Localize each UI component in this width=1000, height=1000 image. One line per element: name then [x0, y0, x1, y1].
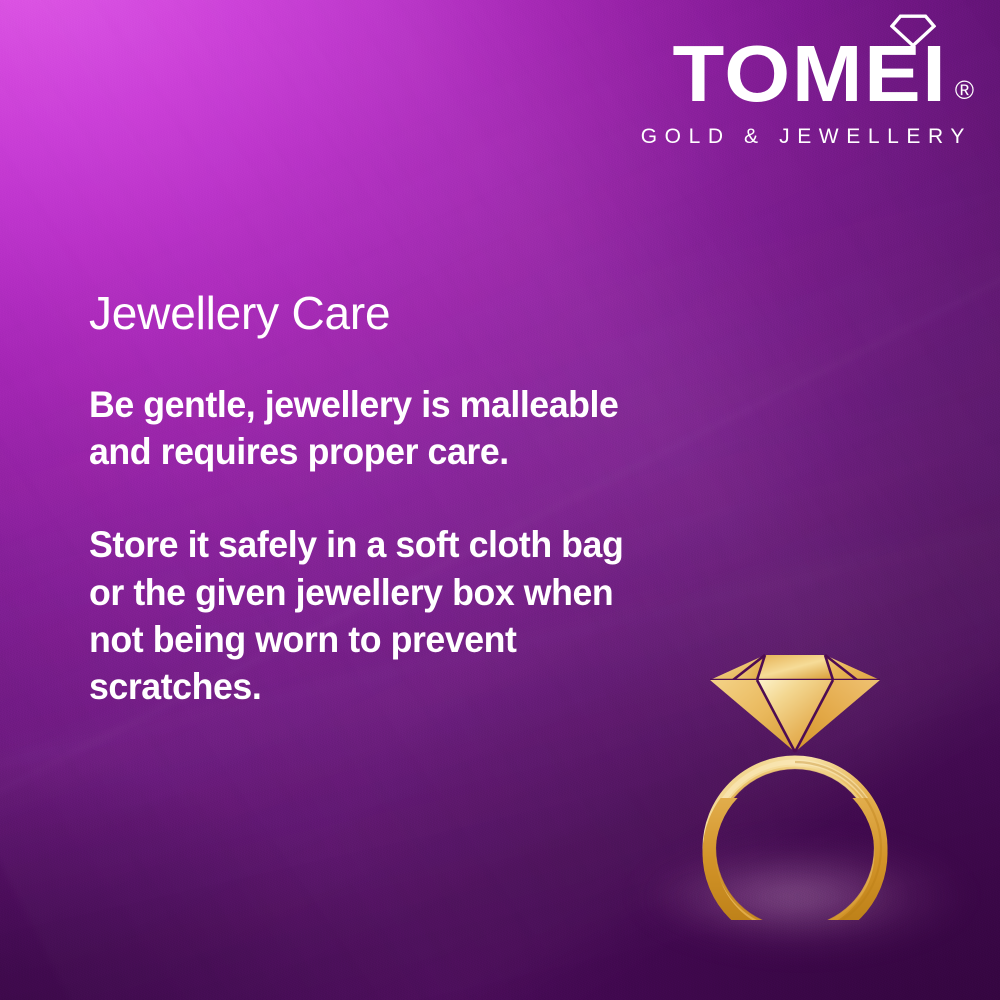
brand-wordmark-row: TOMEI®	[641, 10, 974, 114]
brand-tagline: GOLD & JEWELLERY	[641, 125, 974, 149]
gold-band	[709, 762, 881, 920]
diamond-gem	[710, 655, 880, 752]
poster-canvas: TOMEI® GOLD & JEWELLERY Jewellery Care B…	[0, 0, 1000, 1000]
copy-block: Jewellery Care Be gentle, jewellery is m…	[89, 288, 649, 711]
care-paragraph-1: Be gentle, jewellery is malleable and re…	[89, 381, 629, 476]
registered-trademark-icon: ®	[955, 77, 974, 103]
diamond-ring-illustration	[690, 630, 980, 920]
brand-logo[interactable]: TOMEI® GOLD & JEWELLERY	[641, 10, 974, 149]
page-title: Jewellery Care	[89, 288, 649, 339]
care-paragraph-2: Store it safely in a soft cloth bag or t…	[89, 521, 629, 710]
brand-name: TOMEI	[673, 10, 948, 114]
